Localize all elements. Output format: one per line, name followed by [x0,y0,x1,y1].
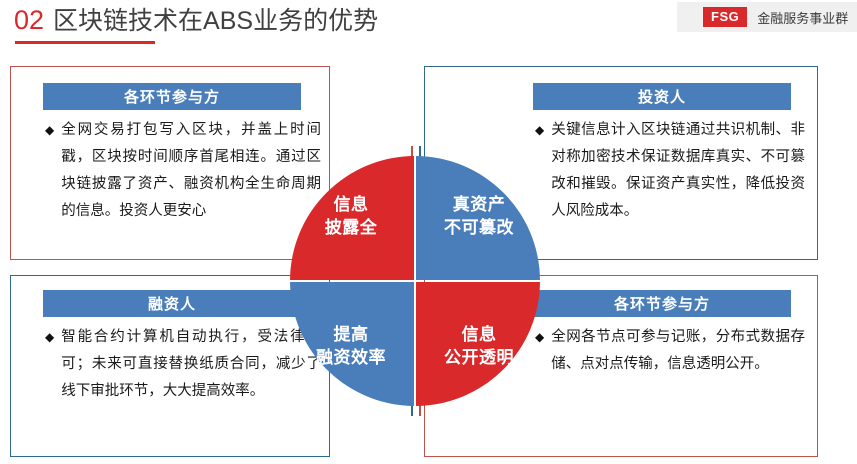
card-top-right-body: ◆ 关键信息计入区块链通过共识机制、非对称加密技术保证数据库真实、不可篡改和摧毁… [535,117,805,225]
card-top-left-header: 各环节参与方 [43,83,301,110]
wheel-quadrant-bottom-right-line1: 信息 [462,323,497,346]
card-bottom-left: 融资人 ◆ 智能合约计算机自动执行，受法律认可；未来可直接替换纸质合同，减少了线… [10,275,330,457]
page-title: 02 区块链技术在ABS业务的优势 [14,4,378,37]
card-bottom-right-text: 全网各节点可参与记账，分布式数据存储、点对点传输，信息透明公开。 [551,324,805,378]
wheel-quadrant-top-right[interactable]: 真资产 不可篡改 [416,156,540,280]
slide-header: 02 区块链技术在ABS业务的优势 FSG 金融服务事业群 [0,0,857,48]
wheel-quadrant-top-right-line1: 真资产 [453,193,506,216]
wheel-quadrant-top-right-line2: 不可篡改 [444,216,514,239]
wheel-quadrant-top-left[interactable]: 信息 披露全 [290,156,414,280]
wheel-quadrant-bottom-right-line2: 公开透明 [444,346,514,369]
diamond-bullet-icon: ◆ [45,324,54,351]
card-top-left: 各环节参与方 ◆ 全网交易打包写入区块，并盖上时间戳，区块按时间顺序首尾相连。通… [10,66,330,260]
card-top-left-text: 全网交易打包写入区块，并盖上时间戳，区块按时间顺序首尾相连。通过区块链披露了资产… [61,117,321,225]
card-bottom-left-header: 融资人 [43,290,301,317]
card-top-right-text: 关键信息计入区块链通过共识机制、非对称加密技术保证数据库真实、不可篡改和摧毁。保… [551,117,805,225]
card-bottom-left-body: ◆ 智能合约计算机自动执行，受法律认可；未来可直接替换纸质合同，减少了线下审批环… [45,324,321,405]
center-wheel-diagram: 信息 披露全 真资产 不可篡改 提高 融资效率 信息 公开透明 [290,156,540,406]
wheel-quadrant-bottom-left-line2: 融资效率 [316,346,386,369]
diamond-bullet-icon: ◆ [45,117,54,144]
wheel-quadrant-top-left-line2: 披露全 [325,216,378,239]
wheel-quadrant-bottom-left[interactable]: 提高 融资效率 [290,282,414,406]
wheel-quadrant-top-left-line1: 信息 [334,193,369,216]
section-number: 02 [14,4,44,36]
card-bottom-right-header: 各环节参与方 [533,290,791,317]
card-bottom-right-body: ◆ 全网各节点可参与记账，分布式数据存储、点对点传输，信息透明公开。 [535,324,805,378]
card-top-left-body: ◆ 全网交易打包写入区块，并盖上时间戳，区块按时间顺序首尾相连。通过区块链披露了… [45,117,321,225]
brand-logo-badge: FSG [703,7,747,27]
wheel-quadrant-bottom-left-line1: 提高 [334,323,369,346]
section-title-text: 区块链技术在ABS业务的优势 [53,5,378,37]
title-underline-rule [15,41,155,44]
card-top-right-header: 投资人 [533,83,791,110]
wheel-quadrant-bottom-right[interactable]: 信息 公开透明 [416,282,540,406]
brand-name-label: 金融服务事业群 [757,8,848,27]
diamond-bullet-icon: ◆ [535,117,544,144]
brand-block: FSG 金融服务事业群 [677,2,857,32]
card-bottom-left-text: 智能合约计算机自动执行，受法律认可；未来可直接替换纸质合同，减少了线下审批环节，… [61,324,321,405]
